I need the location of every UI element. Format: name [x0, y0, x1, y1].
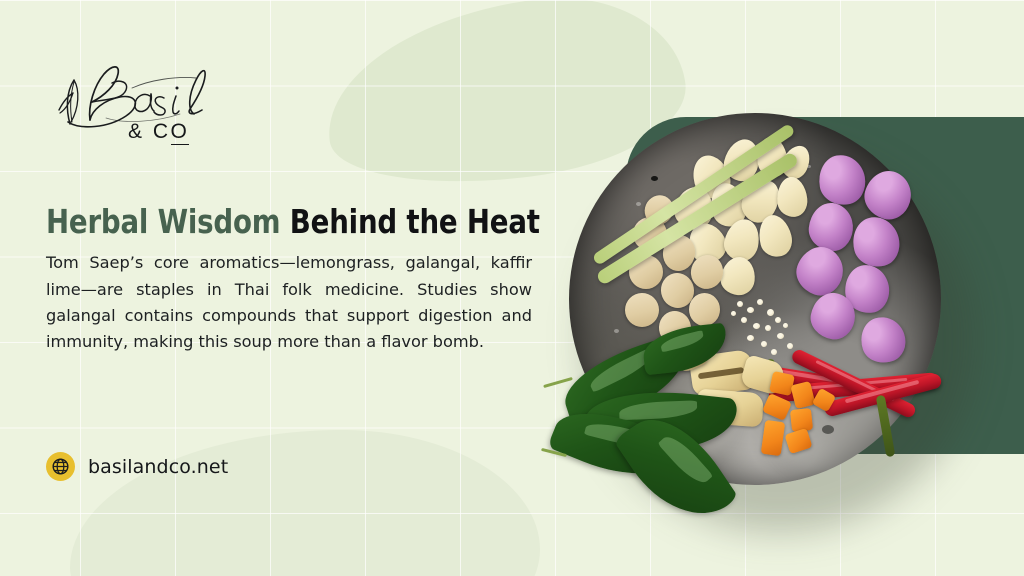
ingredient-photo	[525, 95, 995, 555]
headline-highlight: Herbal Wisdom	[46, 202, 280, 241]
headline-rest: Behind the Heat	[290, 202, 540, 241]
basil-signature-icon	[46, 52, 246, 130]
globe-icon	[46, 452, 75, 481]
logo-subtext: & CO	[128, 120, 189, 144]
website-badge[interactable]: basilandco.net	[46, 452, 228, 481]
content-block: Herbal Wisdom Behind the Heat Tom Saep’s…	[46, 203, 532, 356]
page-title: Herbal Wisdom Behind the Heat	[46, 203, 498, 241]
website-url-text: basilandco.net	[88, 456, 228, 478]
poster-canvas: & CO Herbal Wisdom Behind the Heat Tom S…	[0, 0, 1024, 576]
body-paragraph: Tom Saep’s core aromatics—lemongrass, ga…	[46, 250, 532, 356]
brand-logo[interactable]: & CO	[46, 52, 246, 157]
